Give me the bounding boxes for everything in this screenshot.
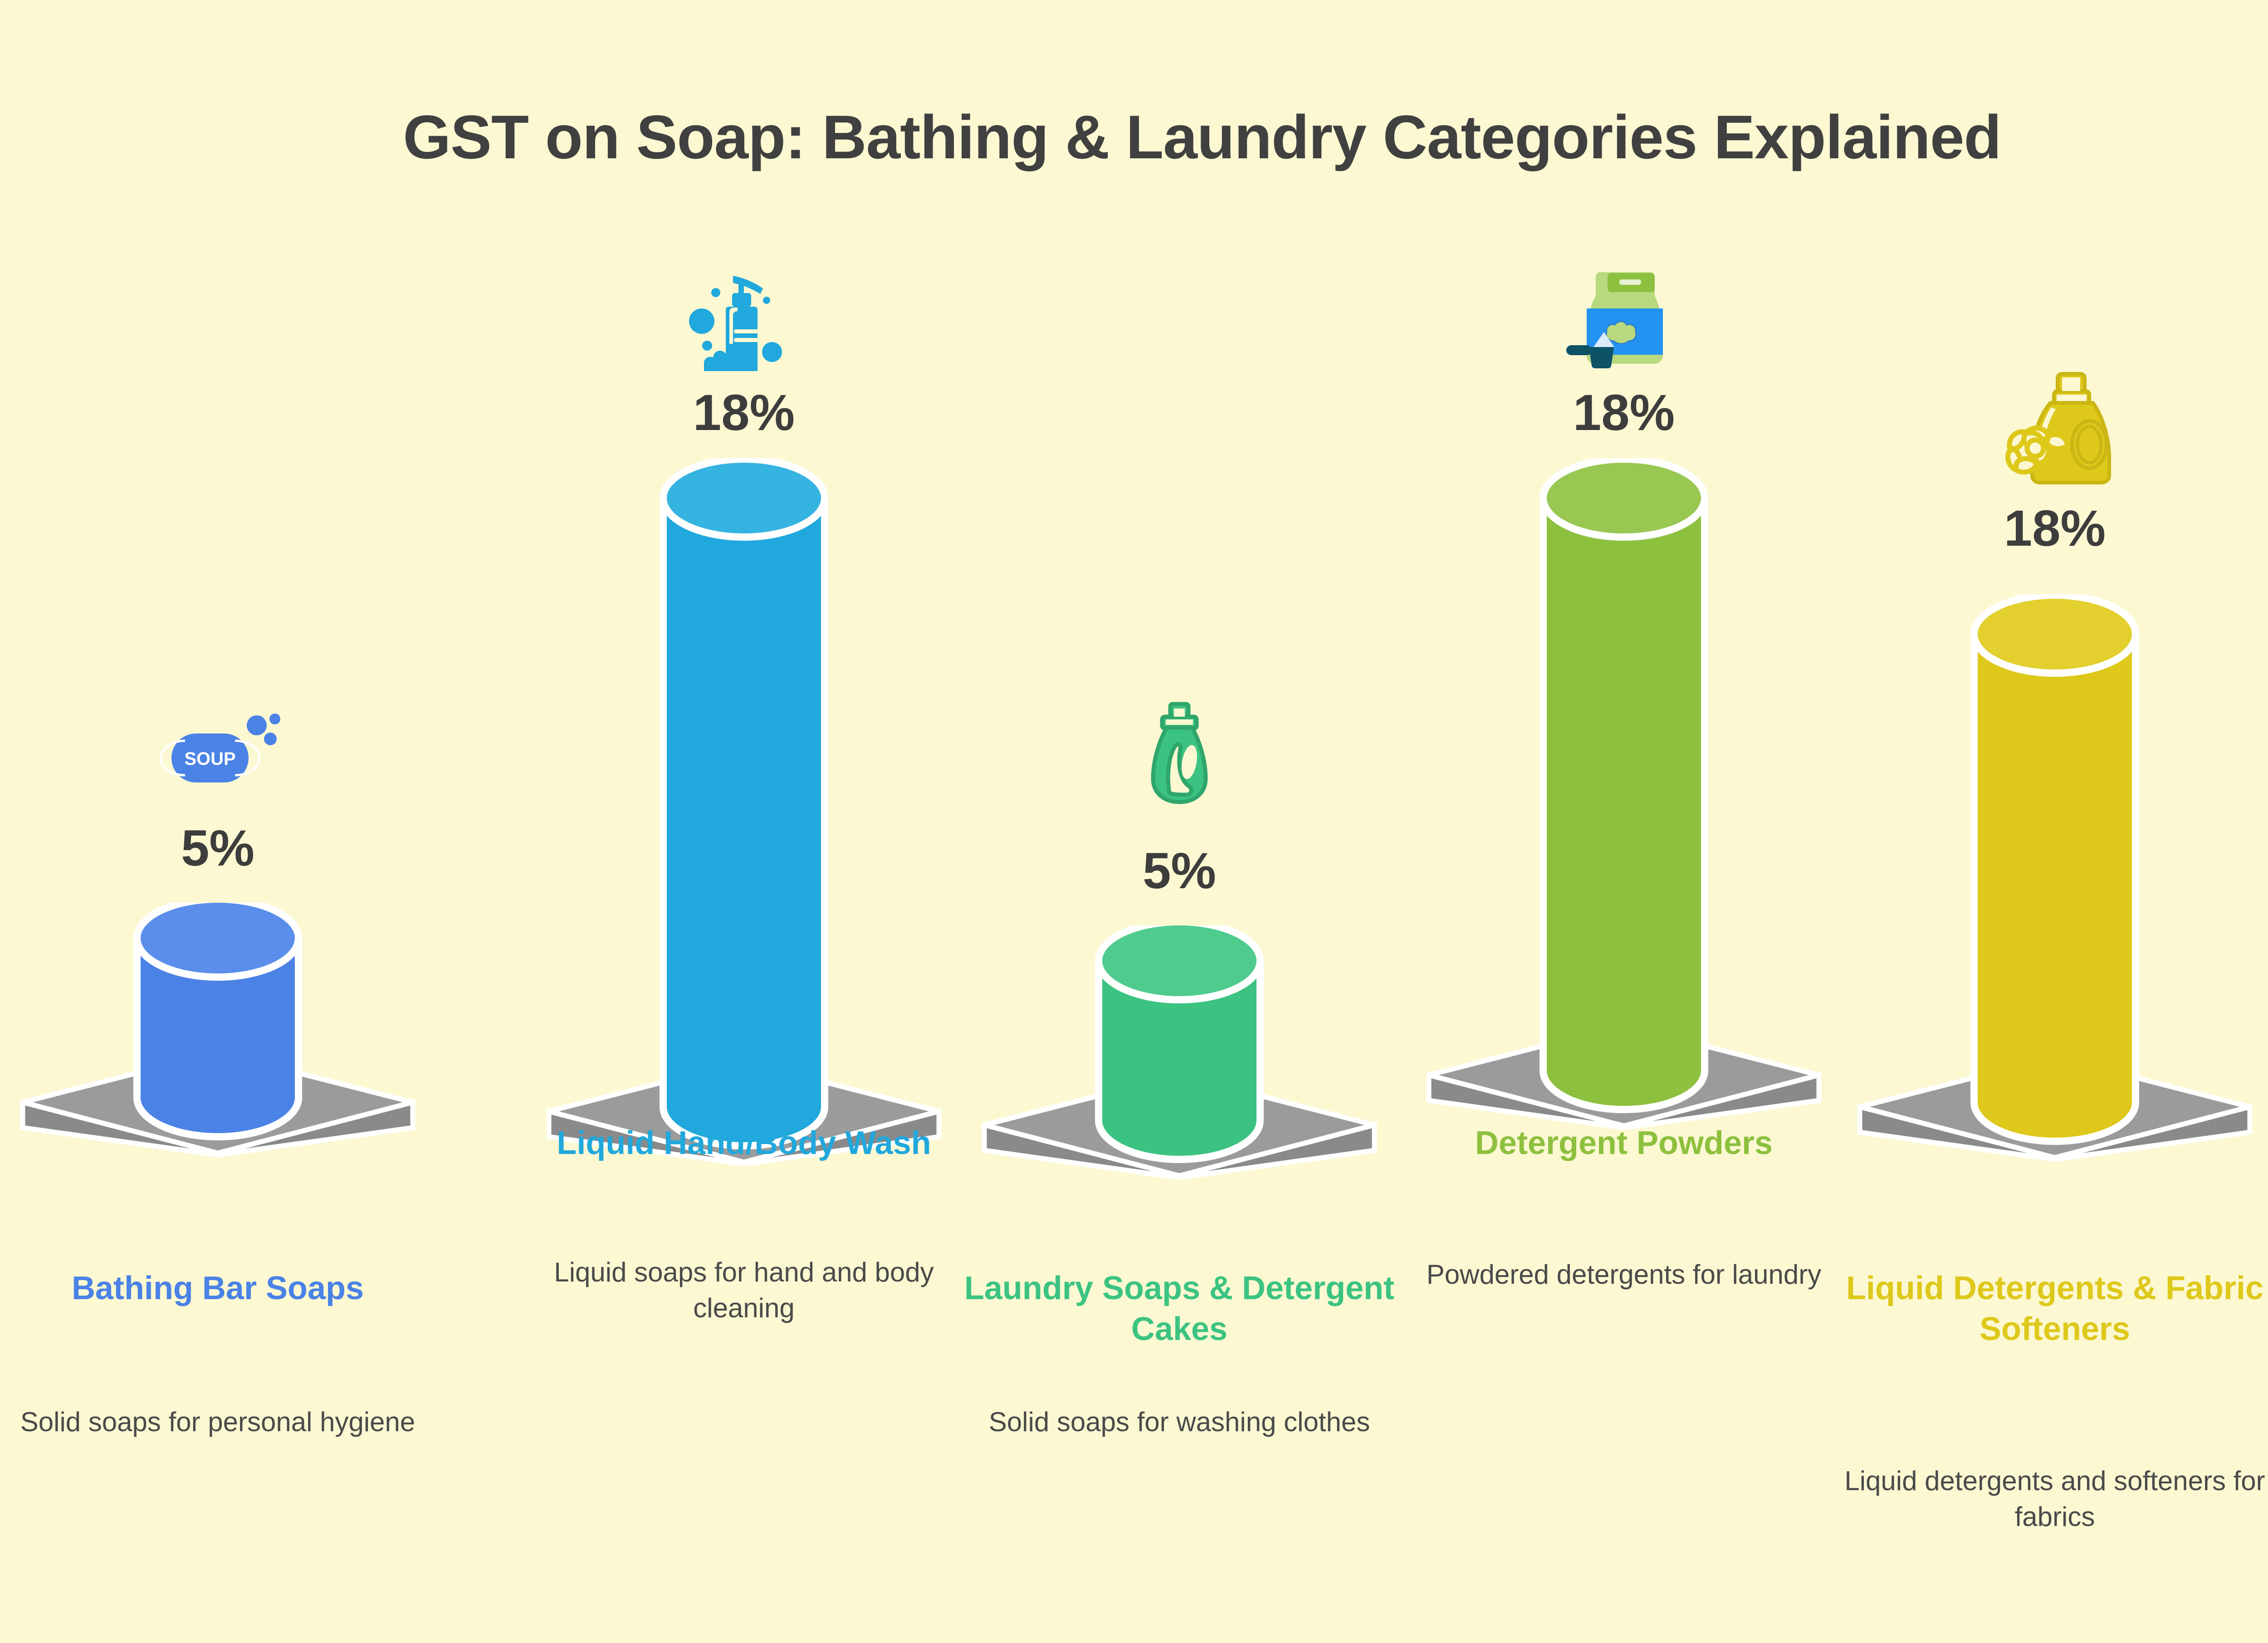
bar-stage-liquid-detergents-fabric-softeners (1828, 594, 2268, 1161)
category-title-bathing-bar-soaps: Bathing Bar Soaps (0, 1268, 445, 1309)
detergent-box-icon (1397, 263, 1851, 377)
soap-bar-icon-label: SOUP (184, 749, 235, 769)
soap-bar-icon: SOUP (0, 705, 445, 792)
cylinder-liquid-detergents-fabric-softeners (1974, 595, 2136, 1141)
percent-label-bathing-bar-soaps: 5% (0, 819, 445, 877)
percent-label-liquid-detergents-fabric-softeners: 18% (1828, 499, 2268, 557)
bar-stage-bathing-bar-soaps (0, 903, 445, 1157)
category-description-laundry-soaps-detergent-cakes: Solid soaps for washing clothes (953, 1404, 1406, 1440)
category-title-detergent-powders: Detergent Powders (1397, 1123, 1851, 1164)
chart-column-liquid-hand-body-wash: 18% Liquid Hand/Body Wash Liquid soaps f… (517, 0, 971, 1643)
bar-stage-liquid-hand-body-wash (517, 458, 971, 1166)
percent-label-liquid-hand-body-wash: 18% (517, 383, 971, 442)
cylinder-bathing-bar-soaps (137, 903, 298, 1137)
detergent-bottle-icon (953, 699, 1406, 807)
category-description-bathing-bar-soaps: Solid soaps for personal hygiene (0, 1404, 445, 1440)
pump-bottle-icon (517, 268, 971, 381)
bar-stage-laundry-soaps-detergent-cakes (953, 925, 1406, 1179)
bar-stage-detergent-powders (1397, 458, 1851, 1130)
chart-column-detergent-powders: 18% Detergent Powders Powdered detergent… (1397, 0, 1851, 1643)
category-title-laundry-soaps-detergent-cakes: Laundry Soaps & Detergent Cakes (953, 1268, 1406, 1350)
cylinder-detergent-powders (1543, 459, 1705, 1110)
category-description-liquid-hand-body-wash: Liquid soaps for hand and body cleaning (517, 1254, 971, 1326)
chart-column-laundry-soaps-detergent-cakes: 5% Laundry Soaps & Detergent Cakes Solid… (953, 0, 1406, 1643)
category-description-liquid-detergents-fabric-softeners: Liquid detergents and softeners for fabr… (1828, 1463, 2268, 1535)
chart-column-liquid-detergents-fabric-softeners: 18% Liquid Detergents & Fabric Softeners… (1828, 0, 2268, 1643)
chart-column-bathing-bar-soaps: SOUP 5% Bathing B (0, 0, 445, 1643)
fabric-softener-icon (1828, 367, 2268, 485)
percent-label-laundry-soaps-detergent-cakes: 5% (953, 841, 1406, 900)
category-description-detergent-powders: Powdered detergents for laundry (1397, 1257, 1851, 1292)
cylinder-laundry-soaps-detergent-cakes (1099, 925, 1260, 1159)
category-title-liquid-hand-body-wash: Liquid Hand/Body Wash (517, 1123, 971, 1164)
category-title-liquid-detergents-fabric-softeners: Liquid Detergents & Fabric Softeners (1828, 1268, 2268, 1350)
cylinder-liquid-hand-body-wash (663, 459, 825, 1146)
percent-label-detergent-powders: 18% (1397, 383, 1851, 442)
bar-chart-columns: SOUP 5% Bathing B (0, 0, 2268, 1643)
